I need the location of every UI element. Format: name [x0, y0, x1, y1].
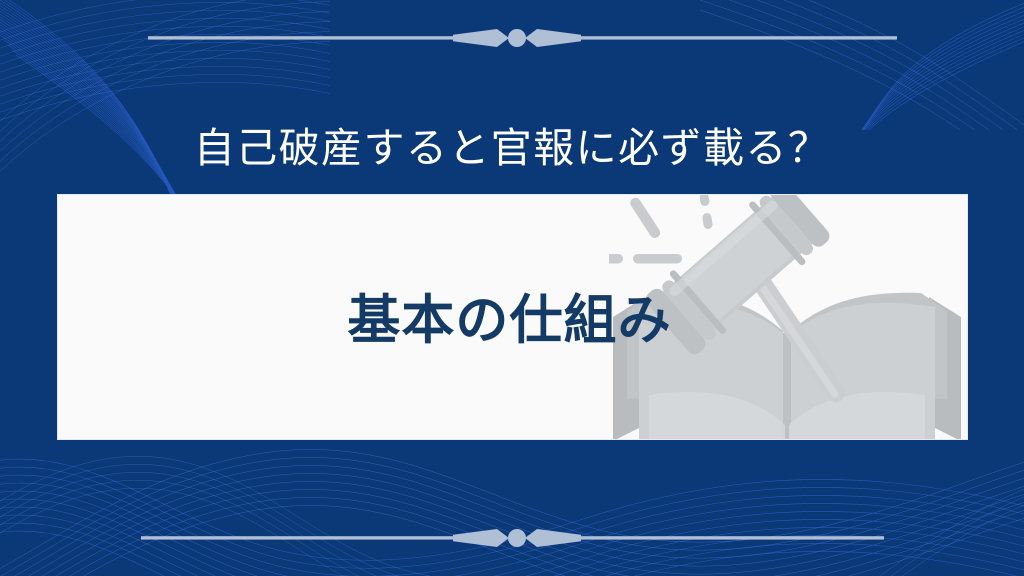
presentation-slide: 自己破産すると官報に必ず載る？: [0, 0, 1024, 576]
card-heading: 基本の仕組み: [347, 292, 671, 350]
impact-lines: [609, 194, 713, 264]
content-card: 基本の仕組み: [57, 194, 968, 440]
divider-top: [0, 18, 1024, 58]
gavel-head: [641, 194, 834, 359]
gavel-and-book-illustration: [609, 194, 968, 439]
gavel-handle: [738, 254, 849, 406]
open-book: [613, 293, 961, 439]
gavel-neck: [724, 254, 767, 296]
divider-bottom: [0, 518, 1024, 558]
card-heading-container: 基本の仕組み: [58, 195, 968, 440]
slide-title: 自己破産すると官報に必ず載る？: [0, 123, 1024, 173]
